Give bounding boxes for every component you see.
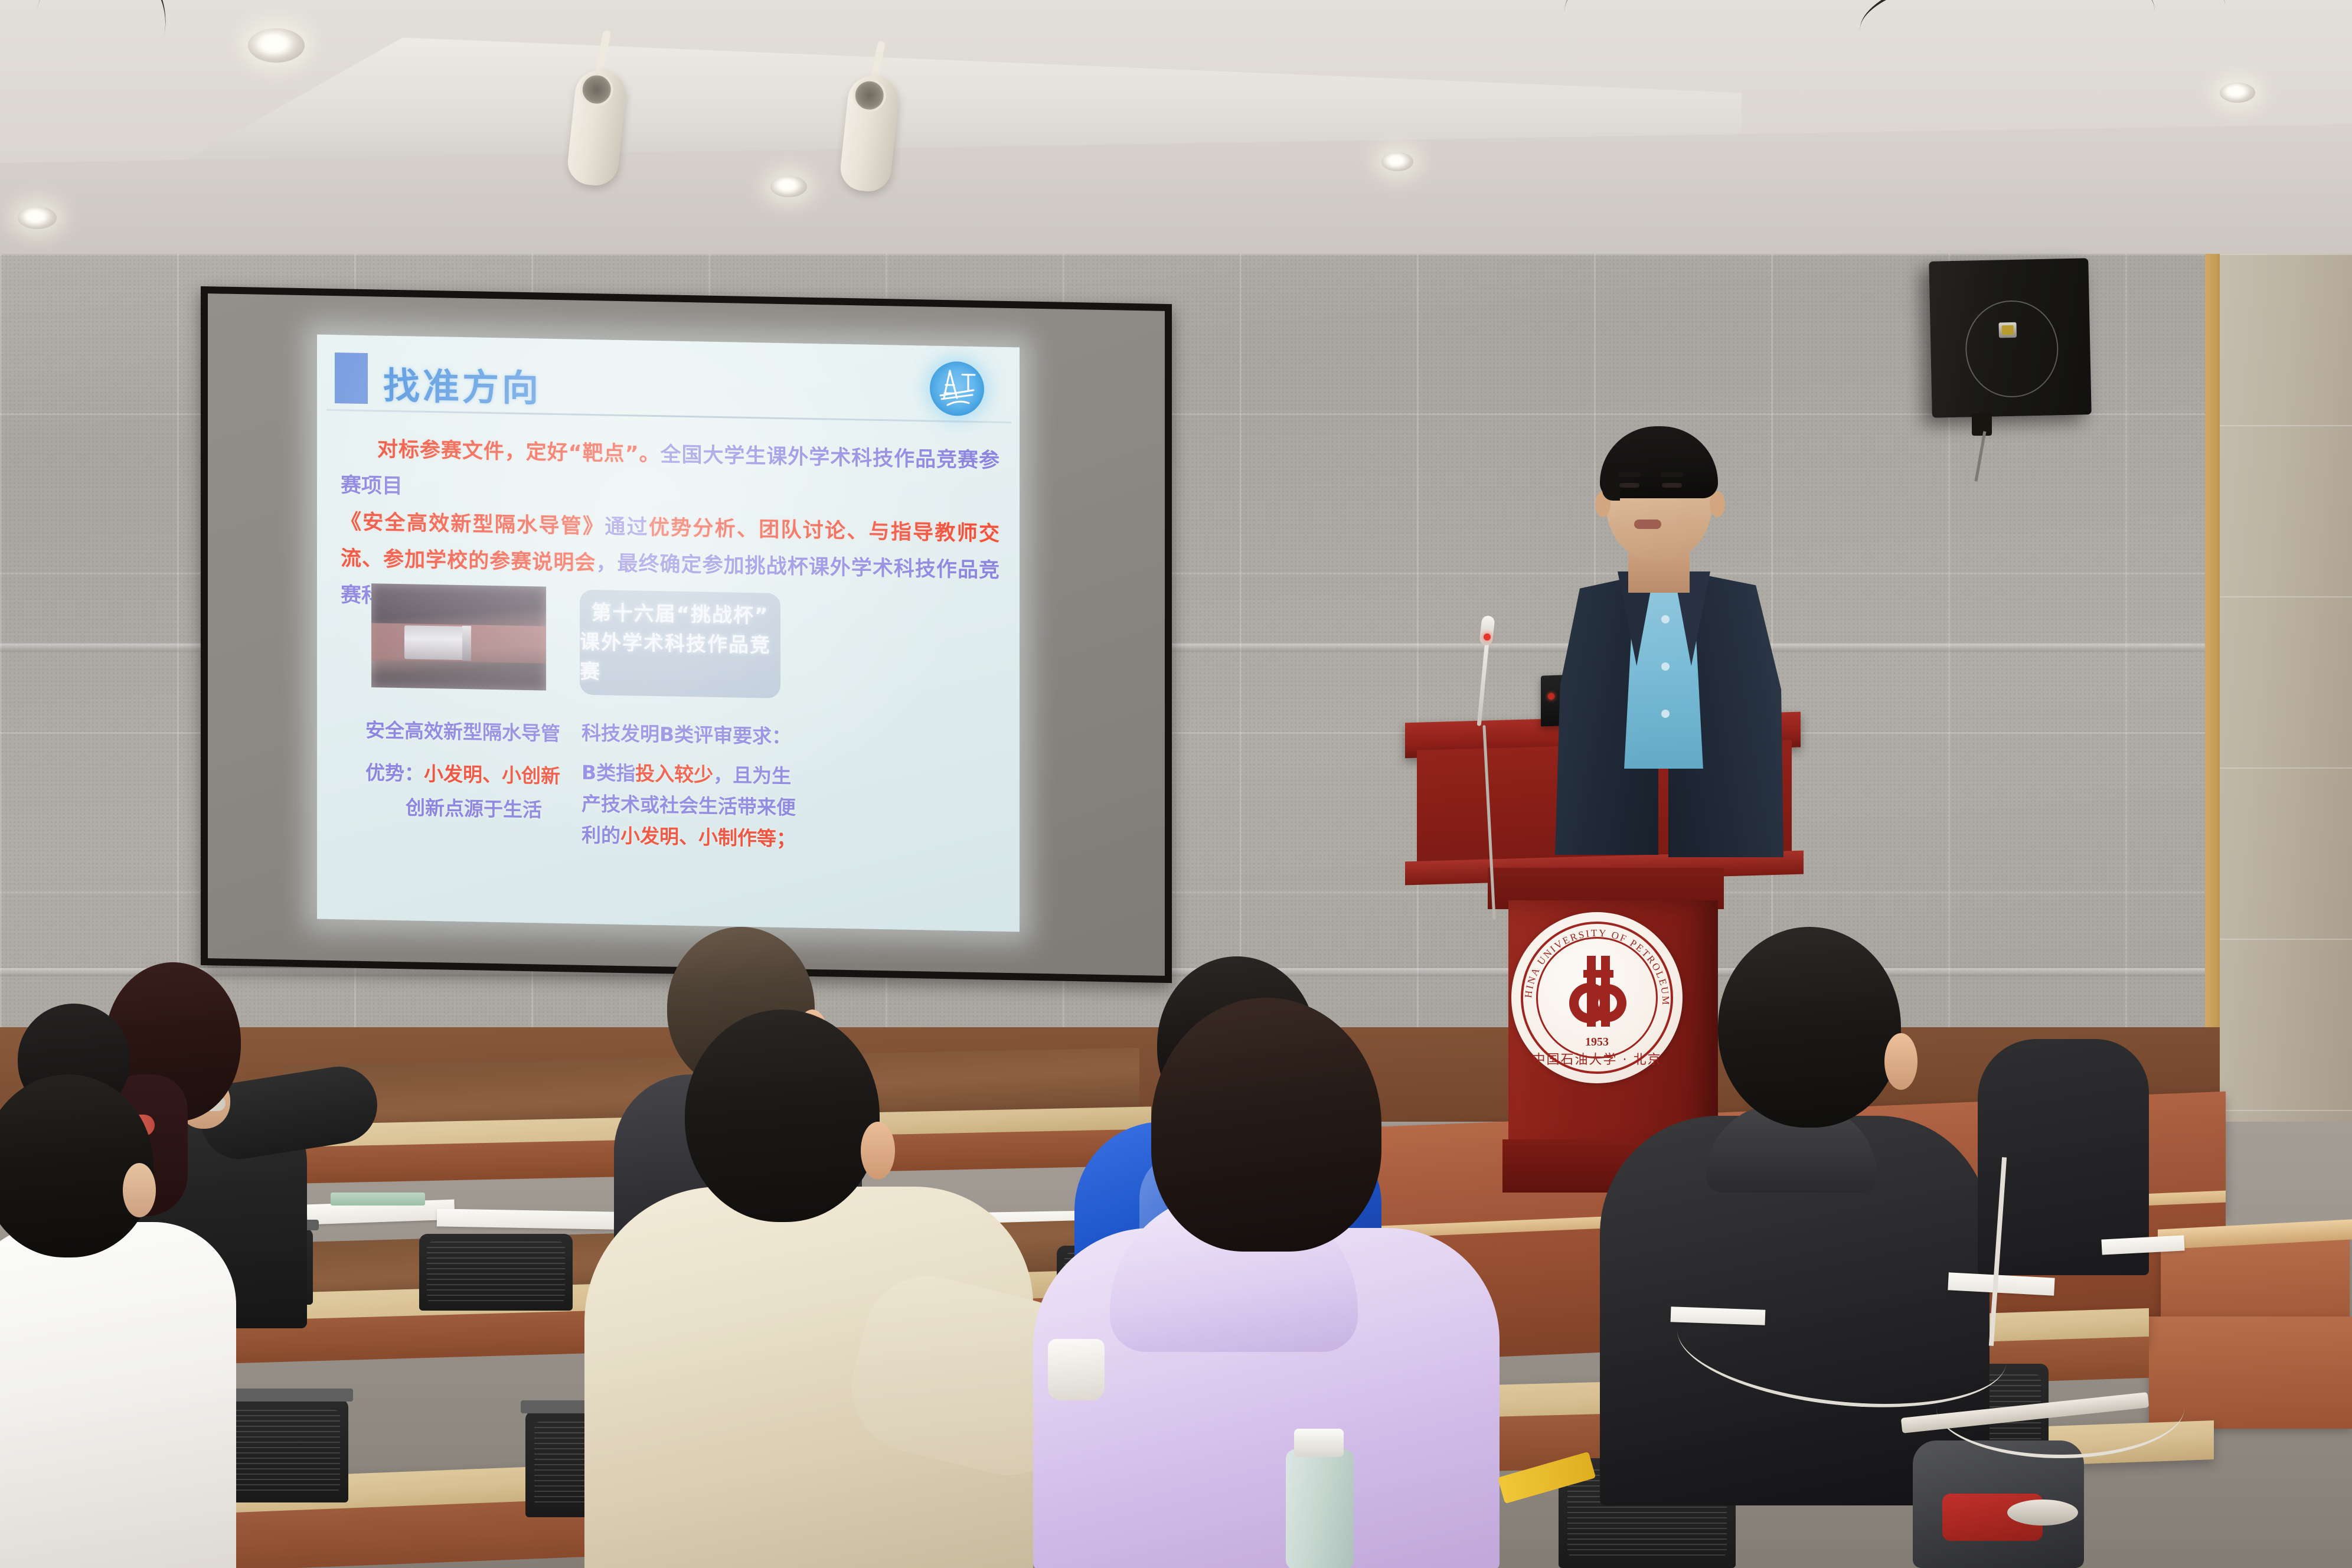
water-bottle-cap: [1294, 1429, 1344, 1457]
audience-lavender-hoodie: [1033, 998, 1517, 1568]
caption-left-title: 安全高效新型隔水导管: [365, 713, 560, 751]
body-seg-6: 参赛说明会: [489, 550, 596, 575]
microphone-led-icon: [1484, 633, 1491, 641]
caption-right-p1a: B类指: [582, 761, 635, 785]
chair[interactable]: [419, 1234, 573, 1311]
downlight-5: [18, 207, 57, 229]
audience-man-white-shirt: [0, 1074, 266, 1568]
downlight-4: [2220, 83, 2255, 103]
caption-right-p1-red: 投入较少: [635, 762, 713, 786]
head: [685, 1010, 880, 1222]
duct-grille-icon: [579, 71, 615, 108]
caption-right-p1b: ，且为生: [713, 763, 791, 788]
corner-pillar: [2220, 254, 2352, 1122]
shirt-button: [1661, 615, 1670, 623]
caption-right-p2: 产技术或社会生活带来便: [582, 788, 818, 824]
ear: [1884, 1033, 1917, 1090]
floor-outlet-plate: [2007, 1500, 2078, 1525]
wall-mounted-loudspeaker: [1929, 258, 2091, 418]
caption-left-adv-line2: 创新点源于生活: [365, 790, 560, 828]
head: [1151, 998, 1381, 1252]
presenter-brow-left: [1618, 472, 1641, 477]
presenter-mouth: [1634, 520, 1661, 529]
duct-grille-icon: [851, 77, 888, 114]
speaker-cone-icon: [1965, 299, 2059, 398]
white-mug: [1048, 1339, 1105, 1400]
white-shirt-body: [0, 1222, 236, 1568]
caption-right-p3a: 利的: [582, 824, 620, 847]
caption-left: 安全高效新型隔水导管 优势：小发明、小创新 创新点源于生活: [365, 713, 560, 828]
book-stack: [331, 1193, 425, 1206]
speaker-brand-badge: [1999, 322, 2017, 338]
presenter-hair: [1600, 426, 1718, 498]
slide-title-bar: 找准方向: [317, 339, 1020, 422]
audience-partial-figure-right: [1978, 968, 2155, 1275]
challenge-box-line-1: 第十六届“挑战杯”: [592, 598, 769, 631]
presenter-eye-left: [1619, 483, 1639, 488]
oil-derrick-circle-logo: [930, 361, 984, 417]
caption-right: 科技发明B类评审要求： B类指投入较少，且为生 产技术或社会生活带来便 利的小发…: [582, 717, 818, 855]
slide-title: 找准方向: [383, 356, 541, 412]
shirt-button: [1661, 710, 1670, 718]
photo-pipe: [404, 626, 468, 660]
body-seg-4: 通过: [605, 515, 649, 539]
caption-left-adv-red: 小发明、小创新: [424, 762, 560, 788]
water-bottle[interactable]: [1286, 1449, 1354, 1568]
ear: [123, 1163, 156, 1217]
lecture-hall-scene: 找准方向: [0, 0, 2352, 1568]
downlight-2: [770, 176, 807, 197]
audience-man-beige-jacket: [584, 1010, 1057, 1568]
head: [0, 1074, 153, 1257]
casing-pipe-photo: [371, 583, 546, 690]
photo-wedge: [462, 626, 471, 661]
caption-left-adv-label: 优势：: [365, 761, 424, 785]
presenter-brow-right: [1660, 472, 1684, 477]
challenge-cup-box: 第十六届“挑战杯” 课外学术科技作品竞赛: [580, 590, 780, 698]
projection-screen[interactable]: 找准方向: [201, 286, 1172, 983]
title-accent-square: [335, 352, 368, 404]
shirt-button: [1661, 662, 1670, 671]
challenge-box-line-2: 课外学术科技作品竞赛: [580, 628, 780, 690]
speaker-bracket: [1972, 413, 1992, 436]
presenter: [1529, 413, 1801, 880]
downlight-3: [1381, 152, 1413, 171]
body-seg-3: 《安全高效新型隔水导管》: [341, 510, 605, 538]
body-seg-1: 对标参赛文件，定好“靶点”。: [377, 437, 661, 466]
pillar-stone-lines: [2220, 254, 2352, 1122]
presenter-eye-right: [1662, 483, 1682, 488]
chair-mesh: [427, 1242, 565, 1303]
head: [1718, 927, 1901, 1128]
ear: [861, 1122, 895, 1180]
caption-right-p3-red: 小发明、小制作等；: [620, 824, 796, 850]
downlight-1: [248, 28, 305, 63]
caption-right-title: 科技发明B类评审要求：: [582, 717, 818, 753]
slide-content: 找准方向: [317, 335, 1020, 932]
